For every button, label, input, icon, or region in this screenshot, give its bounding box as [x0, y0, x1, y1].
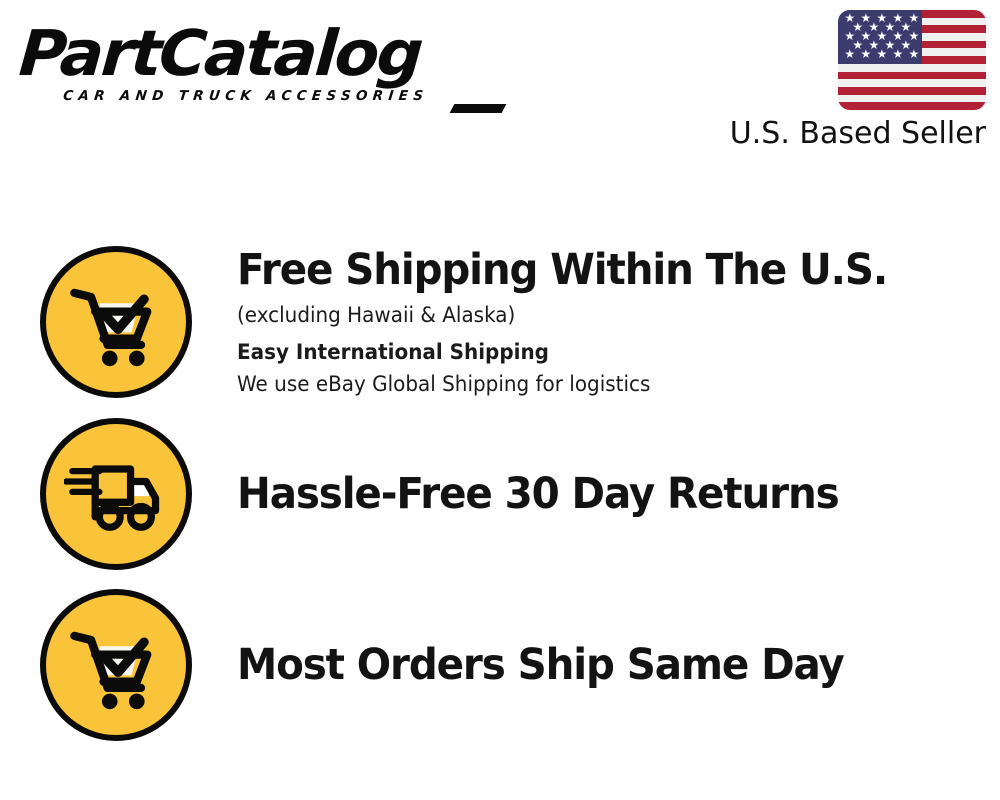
- seller-badge-label: U.S. Based Seller: [724, 116, 986, 152]
- brand-underline-accent: [450, 104, 507, 113]
- us-based-seller-badge: ★ ★ ★ ★ ★ ★ ★ ★ ★ ★ ★ ★ ★ ★ ★ ★ ★ ★ ★ ★: [724, 10, 986, 152]
- feature-subline: We use eBay Global Shipping for logistic…: [237, 368, 943, 400]
- shopping-cart-check-icon: [40, 246, 192, 398]
- flag-stripe: [838, 102, 986, 110]
- flag-canton: ★ ★ ★ ★ ★ ★ ★ ★ ★ ★ ★ ★ ★ ★ ★ ★ ★ ★ ★ ★: [838, 10, 922, 64]
- flag-stripe: [838, 95, 986, 103]
- feature-subline: (excluding Hawaii & Alaska): [237, 299, 943, 331]
- us-flag-icon: ★ ★ ★ ★ ★ ★ ★ ★ ★ ★ ★ ★ ★ ★ ★ ★ ★ ★ ★ ★: [838, 10, 986, 110]
- feature-text: Hassle-Free 30 Day Returns: [192, 468, 980, 520]
- feature-row: Most Orders Ship Same Day: [40, 579, 980, 751]
- delivery-truck-icon: [40, 418, 192, 570]
- feature-heading: Hassle-Free 30 Day Returns: [237, 468, 935, 520]
- flag-stripe: [838, 72, 986, 80]
- brand-wordmark: PartCatalog: [17, 18, 506, 90]
- flag-stripe: [838, 87, 986, 95]
- feature-row: Free Shipping Within The U.S. (excluding…: [40, 236, 980, 408]
- shopping-cart-check-icon: [40, 589, 192, 741]
- header-banner: PartCatalog CAR AND TRUCK ACCESSORIES ★ …: [0, 0, 1000, 175]
- feature-heading: Free Shipping Within The U.S.: [237, 244, 935, 296]
- brand-logo: PartCatalog CAR AND TRUCK ACCESSORIES: [22, 18, 492, 113]
- brand-tagline: CAR AND TRUCK ACCESSORIES: [62, 88, 429, 104]
- feature-row: Hassle-Free 30 Day Returns: [40, 408, 980, 580]
- flag-stripe: [838, 64, 986, 72]
- flag-stripe: [838, 79, 986, 87]
- feature-heading: Most Orders Ship Same Day: [237, 639, 935, 691]
- feature-subline: Easy International Shipping: [237, 336, 943, 368]
- feature-text: Most Orders Ship Same Day: [192, 639, 980, 691]
- feature-text: Free Shipping Within The U.S. (excluding…: [192, 244, 980, 400]
